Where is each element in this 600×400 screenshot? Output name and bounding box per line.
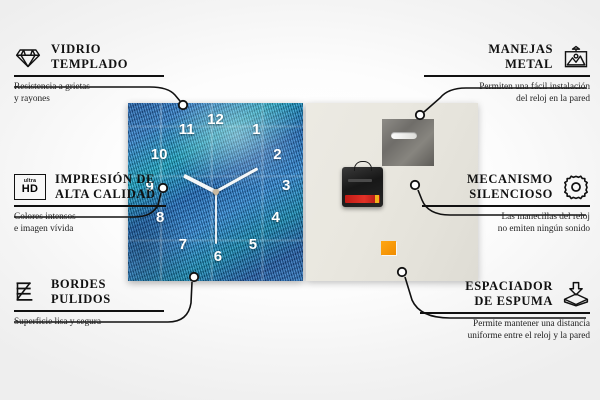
- callout-header: ESPACIADOR DE ESPUMA: [420, 279, 590, 309]
- callout-title: MECANISMO SILENCIOSO: [467, 172, 553, 202]
- callout-header: MECANISMO SILENCIOSO: [422, 172, 590, 202]
- callout-description: Resistencia a grietas y rayones: [14, 81, 164, 105]
- clock-numeral-2: 2: [273, 146, 281, 163]
- ultra-hd-icon: ultra HD: [14, 174, 46, 200]
- picture-hanger-icon: [562, 44, 590, 70]
- clock-numeral-4: 4: [272, 209, 280, 226]
- clock-second-hand: [215, 192, 217, 244]
- callout-header: BORDES PULIDOS: [14, 277, 164, 307]
- callout-description: Superficie lisa y segura: [14, 316, 164, 328]
- callout-rule: [420, 312, 590, 314]
- infographic-stage: 12 1 2 3 4 5 6 7 8 9 10 11: [0, 0, 600, 400]
- clock-numeral-3: 3: [282, 177, 290, 194]
- callout-bordes-pulidos: BORDES PULIDOS Superficie lisa y segura: [14, 277, 164, 328]
- callout-description: Las manecillas del reloj no emiten ningú…: [422, 211, 590, 235]
- callout-vidrio-templado: VIDRIO TEMPLADO Resistencia a grietas y …: [14, 42, 164, 105]
- clock-numeral-12: 12: [207, 111, 224, 128]
- movement-hanging-loop: [354, 161, 372, 171]
- quartz-movement: [342, 167, 383, 207]
- callout-title: BORDES PULIDOS: [51, 277, 111, 307]
- callout-espaciador-de-espuma: ESPACIADOR DE ESPUMA Permite mantener un…: [420, 279, 590, 342]
- gear-icon: [562, 174, 590, 200]
- clock-numeral-11: 11: [179, 121, 195, 138]
- clock-center-cap: [213, 189, 219, 195]
- clock-numeral-7: 7: [179, 236, 187, 253]
- callout-rule: [14, 310, 164, 312]
- callout-header: VIDRIO TEMPLADO: [14, 42, 164, 72]
- hanger-slot: [391, 132, 417, 139]
- callout-rule: [14, 205, 166, 207]
- metal-hanger-plate: [382, 119, 434, 166]
- battery-terminal: [375, 195, 379, 203]
- callout-rule: [422, 205, 590, 207]
- callout-title: IMPRESIÓN DE ALTA CALIDAD: [55, 172, 156, 202]
- callout-rule: [14, 75, 164, 77]
- ultra-hd-icon-big-text: HD: [22, 184, 39, 195]
- movement-ridge: [348, 179, 372, 182]
- diamond-icon: [14, 44, 42, 70]
- callout-description: Colores intensos e imagen vívida: [14, 211, 166, 235]
- callout-description: Permiten una fácil instalación del reloj…: [424, 81, 590, 105]
- callout-title: ESPACIADOR DE ESPUMA: [465, 279, 553, 309]
- callout-rule: [424, 75, 590, 77]
- clock-numeral-1: 1: [252, 121, 260, 138]
- callout-description: Permite mantener una distancia uniforme …: [420, 318, 590, 342]
- callout-mecanismo-silencioso: MECANISMO SILENCIOSO Las manecillas del …: [422, 172, 590, 235]
- callout-header: ultra HD IMPRESIÓN DE ALTA CALIDAD: [14, 172, 166, 202]
- clock-numeral-10: 10: [151, 146, 168, 163]
- callout-title: VIDRIO TEMPLADO: [51, 42, 128, 72]
- clock-minute-hand: [215, 167, 259, 193]
- clock-numeral-5: 5: [249, 236, 257, 253]
- polished-edges-icon: [14, 279, 42, 305]
- callout-header: MANEJAS METAL: [424, 42, 590, 72]
- foam-spacer-icon: [562, 281, 590, 307]
- clock-numeral-6: 6: [214, 248, 222, 265]
- callout-title: MANEJAS METAL: [488, 42, 553, 72]
- clock-hour-hand: [183, 174, 217, 194]
- callout-manejas-metal: MANEJAS METAL Permiten una fácil instala…: [424, 42, 590, 105]
- foam-spacer: [381, 241, 396, 255]
- callout-impresion-alta-calidad: ultra HD IMPRESIÓN DE ALTA CALIDAD Color…: [14, 172, 166, 235]
